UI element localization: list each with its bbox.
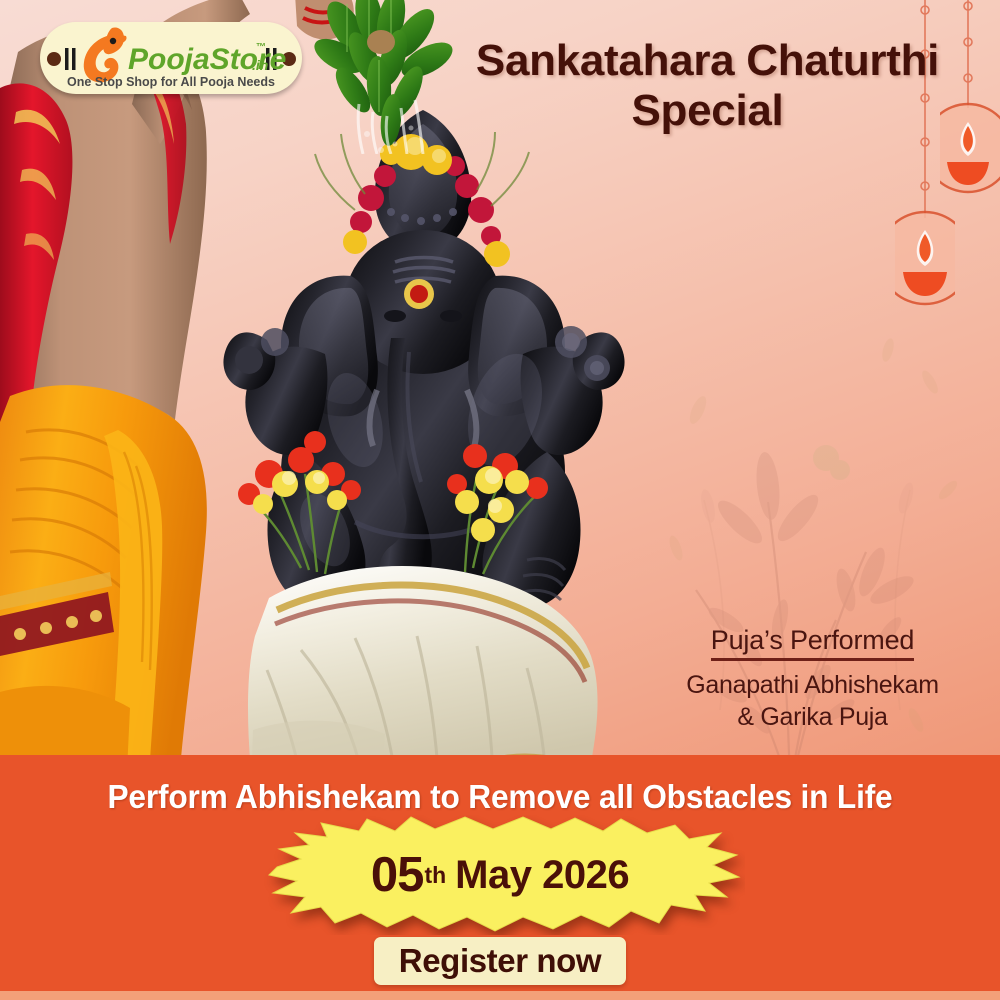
priest-figure-photo [0, 0, 250, 792]
register-now-button[interactable]: Register now [374, 937, 626, 985]
logo-left-dot [47, 52, 61, 66]
page-title-line-2: Special [430, 86, 985, 136]
banner-tagline: Perform Abhishekam to Remove all Obstacl… [20, 778, 980, 816]
event-date-ordinal: th [424, 862, 446, 889]
pujas-performed-heading-wrap: Puja’s Performed [640, 625, 985, 661]
page-title: Sankatahara Chaturthi Special [430, 36, 985, 136]
event-date-day: 05 [371, 847, 424, 903]
event-date-text: 05thMay 2026 [255, 815, 745, 935]
page-title-line-1: Sankatahara Chaturthi [476, 36, 939, 85]
event-date-month-year: May 2026 [455, 853, 629, 898]
event-date-burst: 05thMay 2026 [255, 815, 745, 935]
puja-item-2: & Garika Puja [640, 702, 985, 734]
pujas-performed-heading: Puja’s Performed [711, 625, 914, 661]
pujas-performed-block: Puja’s Performed Ganapathi Abhishekam & … [640, 625, 985, 733]
logo-trademark: ™ [256, 42, 266, 53]
poster-canvas: PoojaStore ™ .in One Stop Shop for All P… [0, 0, 1000, 1000]
brand-logo-badge[interactable]: PoojaStore ™ .in One Stop Shop for All P… [40, 22, 302, 94]
logo-tagline: One Stop Shop for All Pooja Needs [67, 75, 275, 89]
brand-logo-mark: PoojaStore ™ .in One Stop Shop for All P… [40, 22, 302, 94]
puja-item-1: Ganapathi Abhishekam [640, 670, 985, 702]
pujas-performed-list: Ganapathi Abhishekam & Garika Puja [640, 670, 985, 733]
banner-bottom-strip [0, 991, 1000, 1000]
logo-domain: .in [252, 57, 268, 73]
bottom-cta-banner: Perform Abhishekam to Remove all Obstacl… [0, 755, 1000, 1000]
ganesha-idol-photo [205, 90, 645, 790]
